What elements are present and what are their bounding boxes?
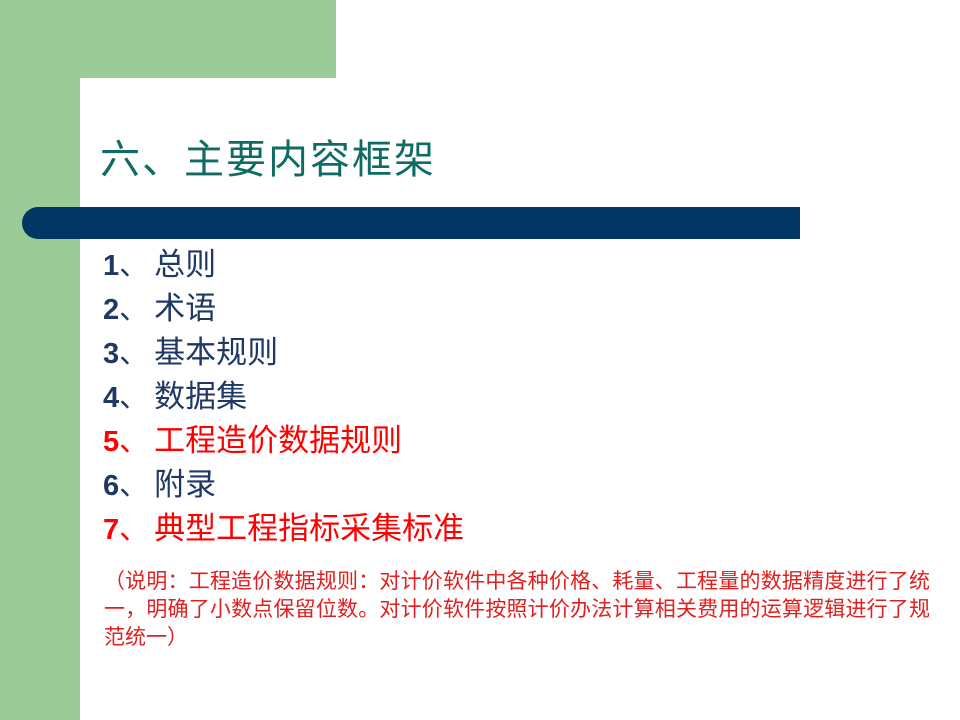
slide-title: 六、主要内容框架	[100, 134, 436, 186]
outline-item-6: 6、附录	[103, 463, 923, 507]
outline-item-number: 3	[103, 338, 119, 370]
outline-item-1: 1、总则	[103, 243, 923, 287]
outline-item-number: 2	[103, 294, 119, 326]
outline-item-separator: 、	[119, 426, 148, 458]
decorative-navy-divider-bar	[22, 207, 800, 239]
outline-item-label: 数据集	[154, 379, 247, 414]
outline-item-2: 2、术语	[103, 287, 923, 331]
outline-item-separator: 、	[119, 250, 148, 282]
outline-item-separator: 、	[119, 514, 148, 546]
outline-item-separator: 、	[119, 382, 148, 414]
outline-item-separator: 、	[119, 470, 148, 502]
outline-item-number: 4	[103, 382, 119, 414]
outline-item-label: 典型工程指标采集标准	[154, 511, 464, 546]
slide-canvas: 六、主要内容框架 1、总则 2、术语 3、基本规则 4、数据集 5、工程造价数据…	[0, 0, 960, 720]
outline-item-label: 工程造价数据规则	[154, 423, 402, 458]
outline-item-number: 1	[103, 250, 119, 282]
outline-item-5: 5、工程造价数据规则	[103, 419, 923, 463]
outline-list: 1、总则 2、术语 3、基本规则 4、数据集 5、工程造价数据规则 6、附录 7…	[103, 243, 923, 551]
outline-item-label: 附录	[154, 467, 216, 502]
outline-item-7: 7、典型工程指标采集标准	[103, 507, 923, 551]
outline-item-separator: 、	[119, 294, 148, 326]
explanatory-note: （说明：工程造价数据规则：对计价软件中各种价格、耗量、工程量的数据精度进行了统一…	[104, 567, 930, 651]
outline-item-separator: 、	[119, 338, 148, 370]
outline-item-number: 7	[103, 514, 119, 546]
outline-item-label: 总则	[154, 247, 216, 282]
outline-item-4: 4、数据集	[103, 375, 923, 419]
outline-item-number: 5	[103, 426, 119, 458]
outline-item-number: 6	[103, 470, 119, 502]
outline-item-label: 术语	[154, 291, 216, 326]
decorative-green-left-strip	[0, 0, 80, 720]
outline-item-label: 基本规则	[154, 335, 278, 370]
outline-item-3: 3、基本规则	[103, 331, 923, 375]
